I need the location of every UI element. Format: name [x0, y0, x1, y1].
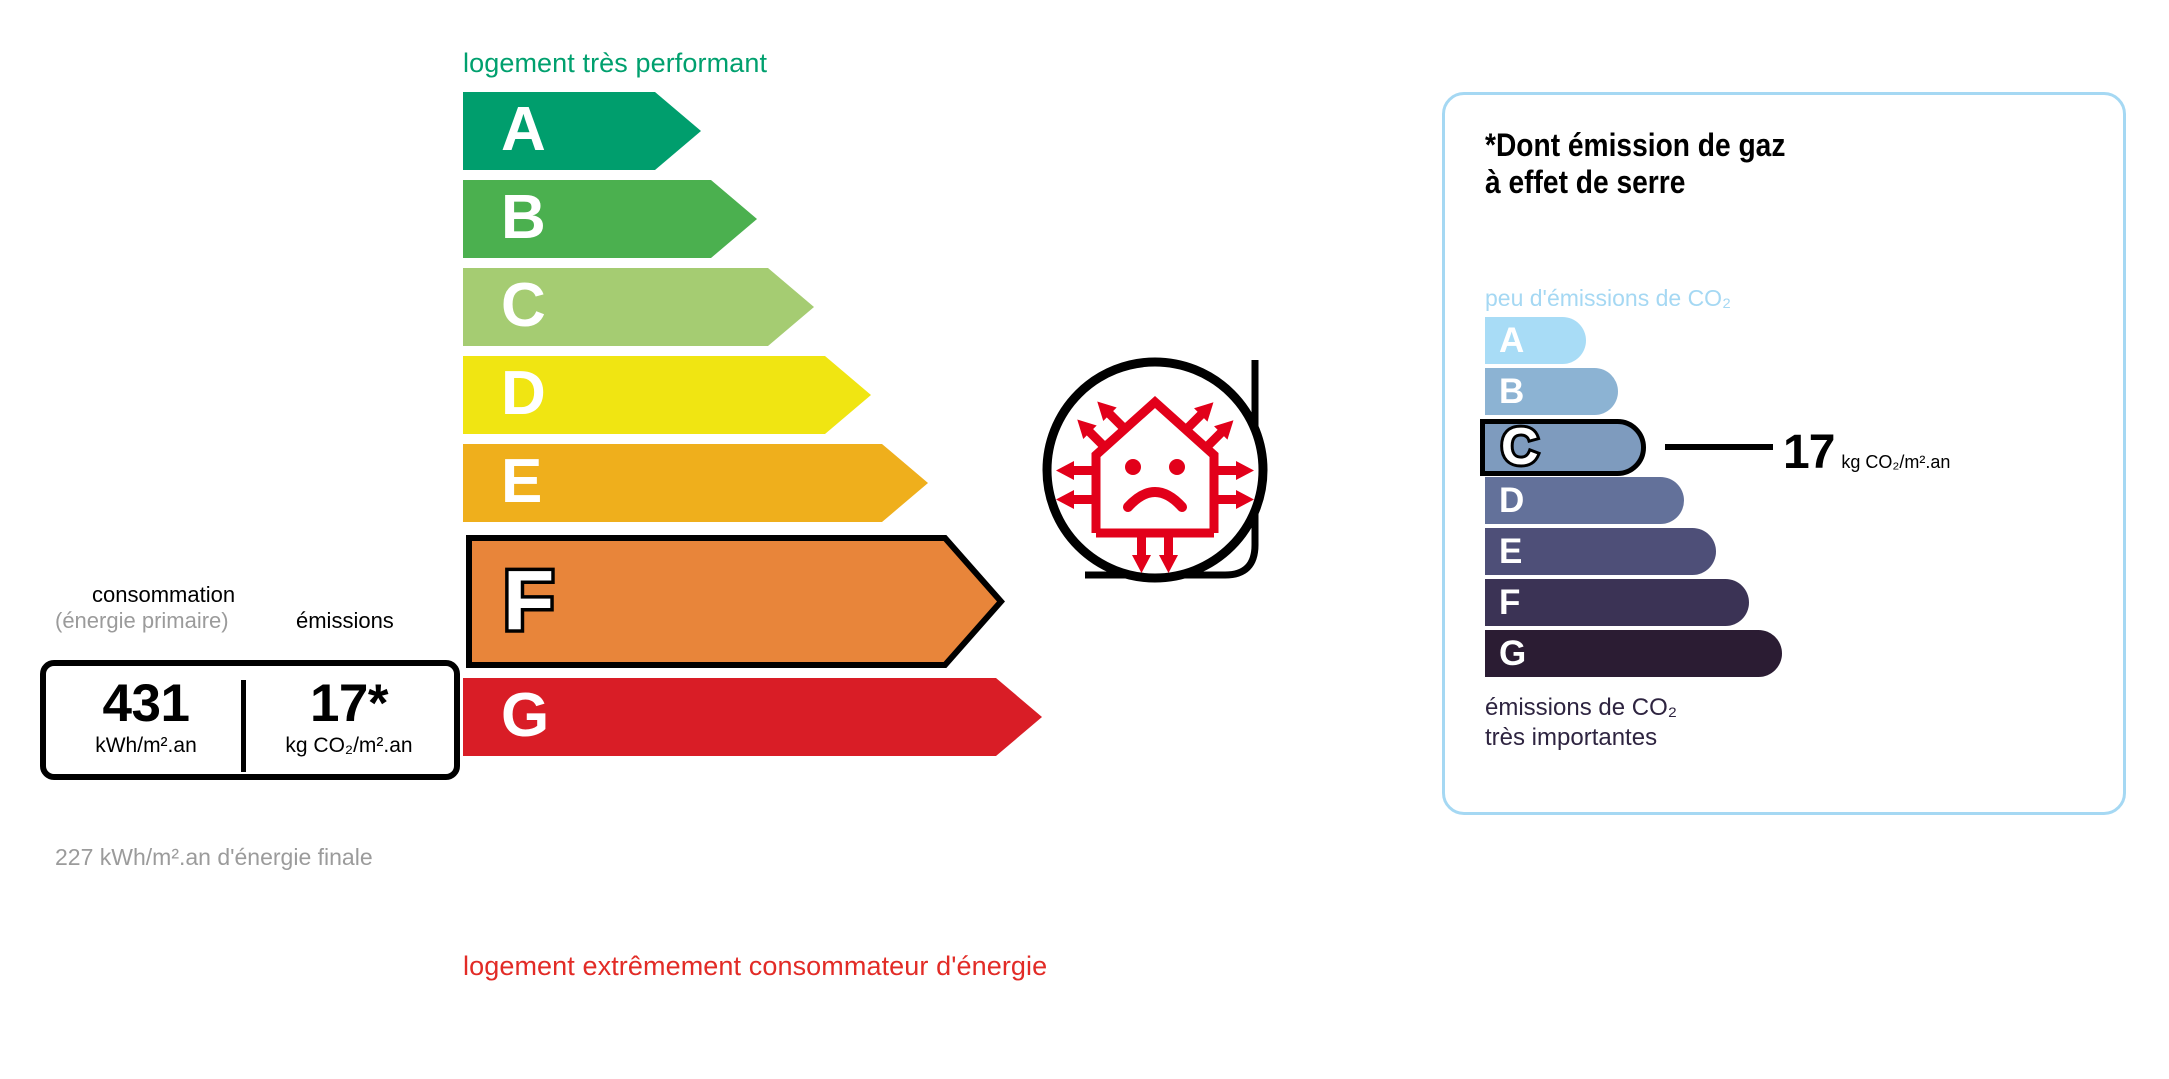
ghg-bar-e: E	[1485, 528, 1716, 575]
energy-row-c: C	[463, 268, 1042, 346]
energy-arrow-d	[463, 356, 1042, 434]
energy-grade-letter-c: C	[501, 275, 546, 337]
ghg-bottom-caption: émissions de CO₂ très importantes	[1485, 693, 1677, 753]
value-box-wrapper: 431 kWh/m².an 17* kg CO₂/m².an	[40, 660, 460, 780]
consumption-label: consommation	[92, 582, 235, 608]
energy-row-b: B	[463, 180, 1042, 258]
energy-row-f: F	[463, 532, 1042, 671]
energy-arrow-b	[463, 180, 1042, 258]
energy-scale-bars: ABCDEFG	[463, 92, 1042, 766]
ghg-grade-letter-a: A	[1499, 322, 1524, 357]
ghg-grade-letter-e: E	[1499, 533, 1522, 568]
ghg-grade-letter-c: C	[1501, 420, 1539, 472]
ghg-row-e: E	[1485, 528, 1782, 575]
energy-row-e: E	[463, 444, 1042, 522]
ghg-scale-bars: ABCDEFG 17kg CO₂/m².an	[1485, 317, 1782, 681]
ghg-emissions-panel: *Dont émission de gaz à effet de serre p…	[1442, 92, 2126, 815]
ghg-value-number: 17	[1783, 426, 1834, 479]
ghg-row-d: D	[1485, 477, 1782, 524]
energy-grade-letter-a: A	[501, 99, 546, 161]
ghg-grade-letter-f: F	[1499, 584, 1520, 619]
energy-row-d: D	[463, 356, 1042, 434]
ghg-grade-letter-b: B	[1499, 373, 1524, 408]
energy-arrow-c	[463, 268, 1042, 346]
value-box-divider	[241, 680, 246, 772]
ghg-grade-letter-d: D	[1499, 482, 1524, 517]
energy-arrow-g	[463, 678, 1042, 756]
energy-grade-letter-g: G	[501, 685, 549, 747]
ghg-top-caption: peu d'émissions de CO₂	[1485, 285, 1731, 312]
ghg-value-callout: 17kg CO₂/m².an	[1783, 425, 1950, 480]
energy-performance-panel: logement très performant ABCDEFG logemen…	[0, 0, 1330, 1079]
consumption-sublabel: (énergie primaire)	[55, 608, 229, 634]
energy-arrow-e	[463, 444, 1042, 522]
energy-bottom-caption: logement extrêmement consommateur d'éner…	[463, 951, 1047, 982]
energy-top-caption: logement très performant	[463, 48, 767, 79]
ghg-row-f: F	[1485, 579, 1782, 626]
ghg-grade-letter-g: G	[1499, 635, 1526, 670]
primary-energy-unit: kWh/m².an	[56, 734, 236, 757]
emissions-label: émissions	[296, 608, 394, 634]
house-bubble	[1040, 355, 1270, 605]
ghg-panel-title: *Dont émission de gaz à effet de serre	[1485, 127, 1785, 201]
energy-grade-letter-b: B	[501, 187, 546, 249]
ghg-row-a: A	[1485, 317, 1782, 364]
ghg-bar-a: A	[1485, 317, 1586, 364]
final-energy-footnote: 227 kWh/m².an d'énergie finale	[55, 843, 373, 872]
energy-grade-letter-e: E	[501, 451, 542, 513]
ghg-bar-d: D	[1485, 477, 1684, 524]
emissions-value: 17*	[251, 676, 447, 732]
energy-row-a: A	[463, 92, 1042, 170]
ghg-row-g: G	[1485, 630, 1782, 677]
consumption-value-box: 431 kWh/m².an 17* kg CO₂/m².an	[40, 660, 460, 780]
ghg-value-unit: kg CO₂/m².an	[1841, 452, 1950, 472]
ghg-bar-c: C	[1480, 419, 1646, 476]
ghg-bar-f: F	[1485, 579, 1749, 626]
primary-energy-cell: 431 kWh/m².an	[56, 676, 236, 757]
emissions-unit: kg CO₂/m².an	[251, 734, 447, 757]
energy-grade-letter-d: D	[501, 363, 546, 425]
ghg-bar-g: G	[1485, 630, 1782, 677]
emissions-cell: 17* kg CO₂/m².an	[251, 676, 447, 757]
ghg-bar-b: B	[1485, 368, 1618, 415]
primary-energy-value: 431	[56, 676, 236, 732]
ghg-row-b: B	[1485, 368, 1782, 415]
energy-grade-letter-f: F	[503, 558, 554, 642]
ghg-row-c: C	[1485, 419, 1782, 476]
energy-row-g: G	[463, 678, 1042, 756]
energy-arrow-a	[463, 92, 1042, 170]
